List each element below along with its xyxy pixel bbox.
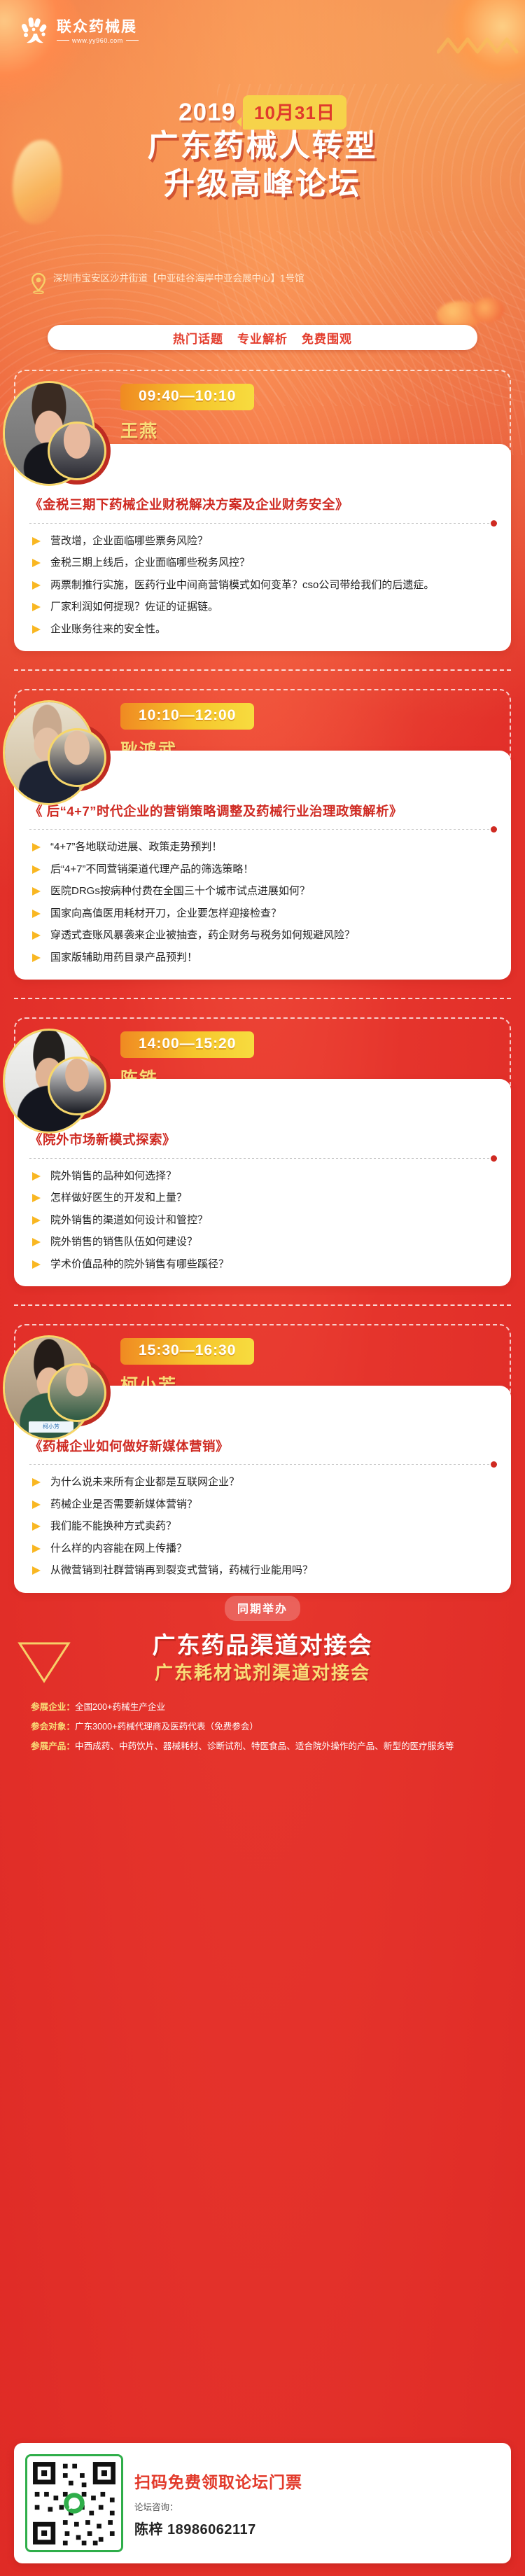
expo-info-key: 参展企业： bbox=[31, 1701, 75, 1714]
event-title: 广东药械人转型 升级高峰论坛 bbox=[0, 127, 525, 202]
topic-title: 《 后“4+7”时代企业的营销策略调整及药械行业治理政策解析》 bbox=[29, 802, 496, 821]
expo-info-key: 参展产品： bbox=[31, 1740, 75, 1753]
topic-points: 营改增，企业面临哪些票务风险？ 金税三期上线后，企业面临哪些税务风控？ 两票制推… bbox=[29, 534, 496, 638]
brand-name: 联众药械展 bbox=[57, 20, 139, 34]
topic-point: 从微营销到社群营销再到裂变式营销，药械行业能用吗？ bbox=[29, 1563, 496, 1579]
expo-info-row: 参展产品： 中西成药、中药饮片、器械耗材、诊断试剂、特医食品、适合院外操作的产品… bbox=[31, 1740, 504, 1753]
topic-card: 《院外市场新模式探索》 院外销售的品种如何选择？ 怎样做好医生的开发和上量？ 院… bbox=[14, 1079, 511, 1286]
topic-title: 《金税三期下药械企业财税解决方案及企业财务安全》 bbox=[29, 496, 496, 514]
topic-title: 《药械企业如何做好新媒体营销》 bbox=[29, 1437, 496, 1456]
topic-title: 《院外市场新模式探索》 bbox=[29, 1131, 496, 1149]
topic-point: 什么样的内容能在网上传播？ bbox=[29, 1541, 496, 1557]
topic-point: 医院DRGs按病种付费在全国三十个城市试点进展如何？ bbox=[29, 884, 496, 900]
topic-point: 后“4+7”不同营销渠道代理产品的筛选策略！ bbox=[29, 862, 496, 878]
topic-card: 《金税三期下药械企业财税解决方案及企业财务安全》 营改增，企业面临哪些票务风险？… bbox=[14, 444, 511, 651]
speaker-badge-photo bbox=[48, 1363, 106, 1422]
event-address-text: 深圳市宝安区沙井街道【中亚硅谷海岸中亚会展中心】1号馆 bbox=[53, 272, 304, 286]
session-time: 14:00—15:20 bbox=[120, 1031, 254, 1058]
speaker-badge-photo bbox=[48, 422, 106, 480]
expo-info-key: 参会对象： bbox=[31, 1720, 75, 1734]
brand-logo: 联众药械展 www.yy960.com bbox=[20, 15, 139, 48]
topic-point: 国家版辅助用药目录产品预判！ bbox=[29, 950, 496, 966]
event-tag-0: 热门话题 bbox=[173, 329, 223, 347]
section-divider bbox=[14, 669, 511, 671]
expo-section: 同期举办 广东药品渠道对接会 广东耗材试剂渠道对接会 参展企业： 全国200+药… bbox=[0, 1593, 525, 1753]
topic-point: 两票制推行实施，医药行业中间商营销模式如何变革？cso公司带给我们的后遗症。 bbox=[29, 578, 496, 594]
event-title-line1: 广东药械人转型 bbox=[0, 127, 525, 165]
topic-point: 院外销售的销售队伍如何建设？ bbox=[29, 1234, 496, 1251]
pill-tree-icon bbox=[20, 15, 50, 48]
decor-bubble-b bbox=[472, 298, 504, 323]
topic-point: 营改增，企业面临哪些票务风险？ bbox=[29, 534, 496, 550]
decor-zigzag-icon bbox=[437, 32, 521, 64]
expo-info-row: 参展企业： 全国200+药械生产企业 bbox=[31, 1701, 504, 1714]
expo-info-list: 参展企业： 全国200+药械生产企业 参会对象： 广东3000+药械代理商及医药… bbox=[31, 1701, 504, 1753]
section-divider bbox=[14, 998, 511, 999]
topic-point: 为什么说未来所有企业都是互联网企业？ bbox=[29, 1475, 496, 1491]
qr-ticket-card[interactable]: 扫码免费领取论坛门票 论坛咨询： 陈梓 18986062117 bbox=[14, 2443, 511, 2563]
session-card: 14:00—15:20 陈铁 国内首家院外渠道方案提供商—武汉紫荆花科技有限公司… bbox=[14, 1017, 511, 1306]
topic-point: “4+7”各地联动进展、政策走势预判！ bbox=[29, 840, 496, 856]
topic-rule bbox=[29, 1464, 494, 1465]
event-address: 深圳市宝安区沙井街道【中亚硅谷海岸中亚会展中心】1号馆 bbox=[31, 272, 504, 294]
expo-info-value: 广东3000+药械代理商及医药代表（免费参会） bbox=[75, 1720, 258, 1734]
topic-point: 怎样做好医生的开发和上量？ bbox=[29, 1190, 496, 1206]
session-card: 10:10—12:00 耿鸿武 国内知名行业讲者，九州通医药集团营销总顾问，中国… bbox=[14, 689, 511, 999]
topic-point: 国家向高值医用耗材开刀，企业要怎样迎接检查？ bbox=[29, 906, 496, 922]
section-divider bbox=[14, 1304, 511, 1306]
decor-triangle-icon bbox=[17, 1639, 64, 1676]
topic-point: 厂家利润如何提现？佐证的证据链。 bbox=[29, 599, 496, 615]
event-dateline: 2019 10月31日 bbox=[0, 95, 525, 130]
topic-point: 企业账务往来的安全性。 bbox=[29, 622, 496, 638]
qr-sub: 论坛咨询： bbox=[134, 2500, 500, 2513]
qr-code-icon[interactable] bbox=[25, 2454, 123, 2552]
expo-chip: 同期举办 bbox=[225, 1596, 300, 1621]
qr-text-block: 扫码免费领取论坛门票 论坛咨询： 陈梓 18986062117 bbox=[134, 2469, 500, 2538]
map-pin-icon bbox=[31, 273, 46, 294]
topic-point: 学术价值品种的院外销售有哪些蹊径？ bbox=[29, 1257, 496, 1273]
event-date-badge: 10月31日 bbox=[243, 95, 346, 130]
topic-point: 穿透式查账风暴袭来企业被抽查，药企财务与税务如何规避风险？ bbox=[29, 928, 496, 944]
event-tag-1: 专业解析 bbox=[237, 329, 288, 347]
event-tag-bar: 热门话题 专业解析 免费围观 bbox=[48, 325, 477, 350]
brand-url: www.yy960.com bbox=[57, 37, 139, 44]
topic-card: 《药械企业如何做好新媒体营销》 为什么说未来所有企业都是互联网企业？ 药械企业是… bbox=[14, 1386, 511, 1593]
session-time: 09:40—10:10 bbox=[120, 384, 254, 410]
speaker-badge-photo bbox=[48, 1057, 106, 1115]
expo-info-value: 全国200+药械生产企业 bbox=[75, 1701, 165, 1714]
event-tag-2: 免费围观 bbox=[302, 329, 352, 347]
topic-point: 我们能不能换种方式卖药？ bbox=[29, 1519, 496, 1535]
session-card: 09:40—10:10 王燕 上海金山经济开发区招商服务部主任，从事开发区医药、… bbox=[14, 370, 511, 671]
expo-title-1: 广东药品渠道对接会 bbox=[0, 1631, 525, 1660]
topic-point: 药械企业是否需要新媒体营销？ bbox=[29, 1497, 496, 1513]
topic-point: 院外销售的品种如何选择？ bbox=[29, 1169, 496, 1185]
topic-point: 院外销售的渠道如何设计和管控？ bbox=[29, 1213, 496, 1229]
expo-info-value: 中西成药、中药饮片、器械耗材、诊断试剂、特医食品、适合院外操作的产品、新型的医疗… bbox=[75, 1740, 454, 1753]
event-title-line2: 升级高峰论坛 bbox=[0, 165, 525, 203]
event-year: 2019 bbox=[178, 99, 236, 127]
expo-title-2: 广东耗材试剂渠道对接会 bbox=[0, 1662, 525, 1685]
session-time: 10:10—12:00 bbox=[120, 703, 254, 730]
speaker-name: 王燕 bbox=[120, 417, 498, 443]
speaker-name-tag: 柯小芳 bbox=[29, 1421, 73, 1433]
session-card: 柯小芳 15:30—16:30 柯小芳 国内最大的药械渠道资源对接平台【联众医药… bbox=[14, 1324, 511, 1593]
topic-rule bbox=[29, 829, 494, 830]
topic-point: 金税三期上线后，企业面临哪些税务风控？ bbox=[29, 555, 496, 571]
poster-root: 联众药械展 www.yy960.com 2019 10月31日 广东药械人转型 … bbox=[0, 0, 525, 2576]
speaker-badge-photo bbox=[48, 728, 106, 787]
topic-points: 为什么说未来所有企业都是互联网企业？ 药械企业是否需要新媒体营销？ 我们能不能换… bbox=[29, 1475, 496, 1579]
topic-rule bbox=[29, 523, 494, 524]
expo-info-row: 参会对象： 广东3000+药械代理商及医药代表（免费参会） bbox=[31, 1720, 504, 1734]
qr-contact: 陈梓 18986062117 bbox=[134, 2518, 500, 2538]
qr-headline: 扫码免费领取论坛门票 bbox=[134, 2469, 500, 2493]
topic-points: “4+7”各地联动进展、政策走势预判！ 后“4+7”不同营销渠道代理产品的筛选策… bbox=[29, 840, 496, 966]
topic-points: 院外销售的品种如何选择？ 怎样做好医生的开发和上量？ 院外销售的渠道如何设计和管… bbox=[29, 1169, 496, 1273]
session-time: 15:30—16:30 bbox=[120, 1338, 254, 1365]
topic-rule bbox=[29, 1158, 494, 1159]
